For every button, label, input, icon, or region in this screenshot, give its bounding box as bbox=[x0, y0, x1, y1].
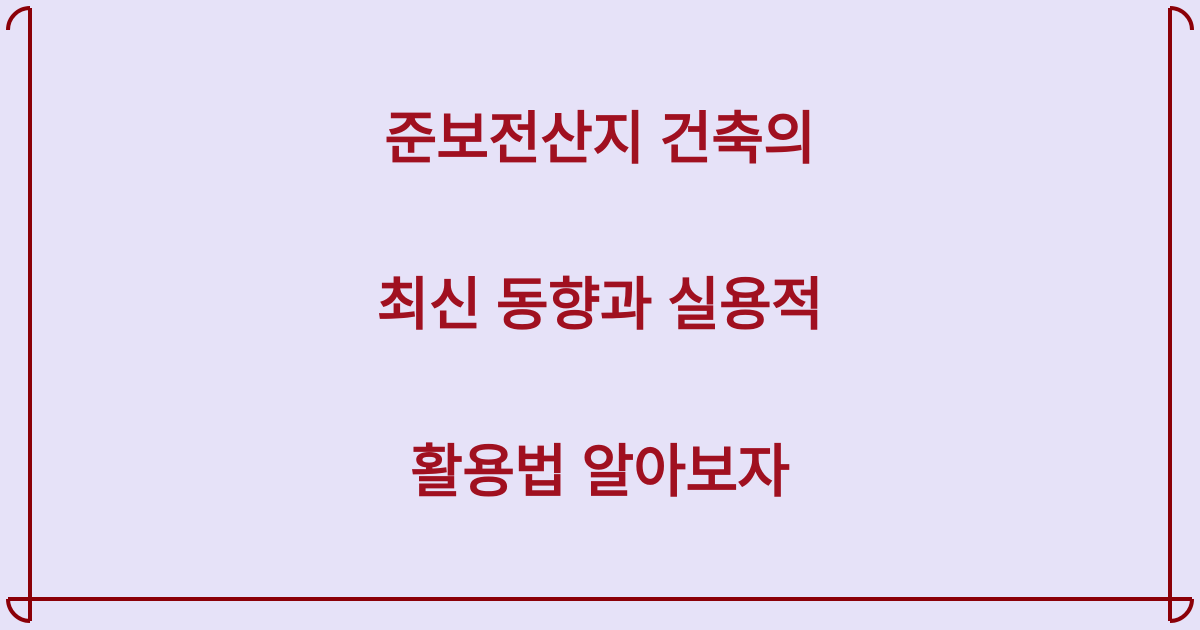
thumbnail-card: 준보전산지 건축의 최신 동향과 실용적 활용법 알아보자 bbox=[0, 0, 1200, 630]
title-line-1: 준보전산지 건축의 bbox=[377, 98, 823, 181]
title-line-3: 활용법 알아보자 bbox=[377, 431, 823, 514]
title-line-2: 최신 동향과 실용적 bbox=[377, 264, 823, 347]
corner-hook-top-right-icon bbox=[1170, 8, 1192, 30]
title-block: 준보전산지 건축의 최신 동향과 실용적 활용법 알아보자 bbox=[30, 0, 1170, 630]
corner-hook-bottom-right-icon bbox=[1170, 599, 1192, 621]
page-title: 준보전산지 건축의 최신 동향과 실용적 활용법 알아보자 bbox=[377, 15, 823, 598]
corner-hook-bottom-left-icon bbox=[8, 599, 30, 621]
corner-hook-top-left-icon bbox=[8, 8, 30, 30]
